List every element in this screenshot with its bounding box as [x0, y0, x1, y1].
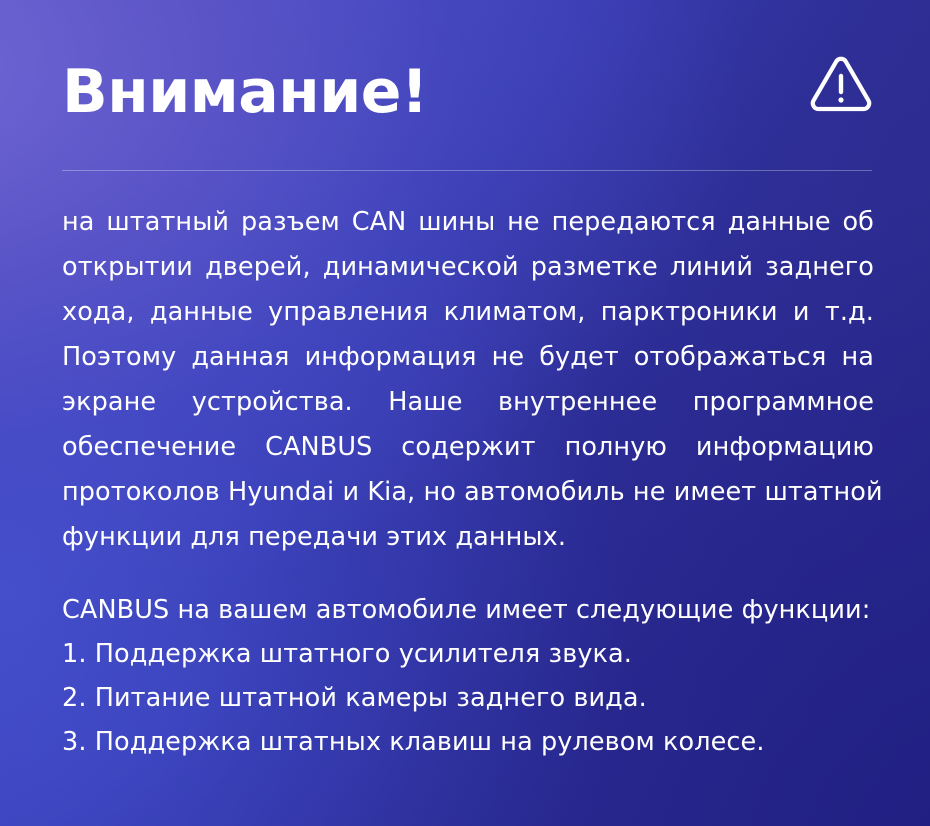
functions-intro: CANBUS на вашем автомобиле имеет следующ…	[62, 588, 874, 632]
paragraph-line: на штатный разъем CAN шины не передаются…	[62, 200, 874, 245]
list-item: 3. Поддержка штатных клавиш на рулевом к…	[62, 720, 874, 764]
page-title: Внимание!	[62, 44, 428, 140]
banner-header: Внимание!	[62, 44, 872, 140]
warning-triangle-icon	[810, 56, 872, 114]
paragraph-line: протоколов Hyundai и Kia, но автомобиль …	[62, 470, 874, 515]
list-item: 2. Питание штатной камеры заднего вида.	[62, 676, 874, 720]
paragraph-line: открытии дверей, динамической разметке л…	[62, 245, 874, 290]
header-divider	[62, 170, 872, 171]
body-copy: на штатный разъем CAN шины не передаются…	[62, 200, 874, 560]
list-item: 1. Поддержка штатного усилителя звука.	[62, 632, 874, 676]
warning-banner: Внимание! на штатный разъем CAN шины не …	[0, 0, 930, 826]
paragraph-line: обеспечение CANBUS содержит полную инфор…	[62, 425, 874, 470]
functions-section: CANBUS на вашем автомобиле имеет следующ…	[62, 588, 874, 764]
paragraph-main: на штатный разъем CAN шины не передаются…	[62, 200, 874, 560]
paragraph-line: хода, данные управления климатом, парктр…	[62, 290, 874, 335]
paragraph-line: экране устройства. Наше внутреннее прогр…	[62, 380, 874, 425]
paragraph-line: функции для передачи этих данных.	[62, 515, 874, 560]
paragraph-line: Поэтому данная информация не будет отобр…	[62, 335, 874, 380]
